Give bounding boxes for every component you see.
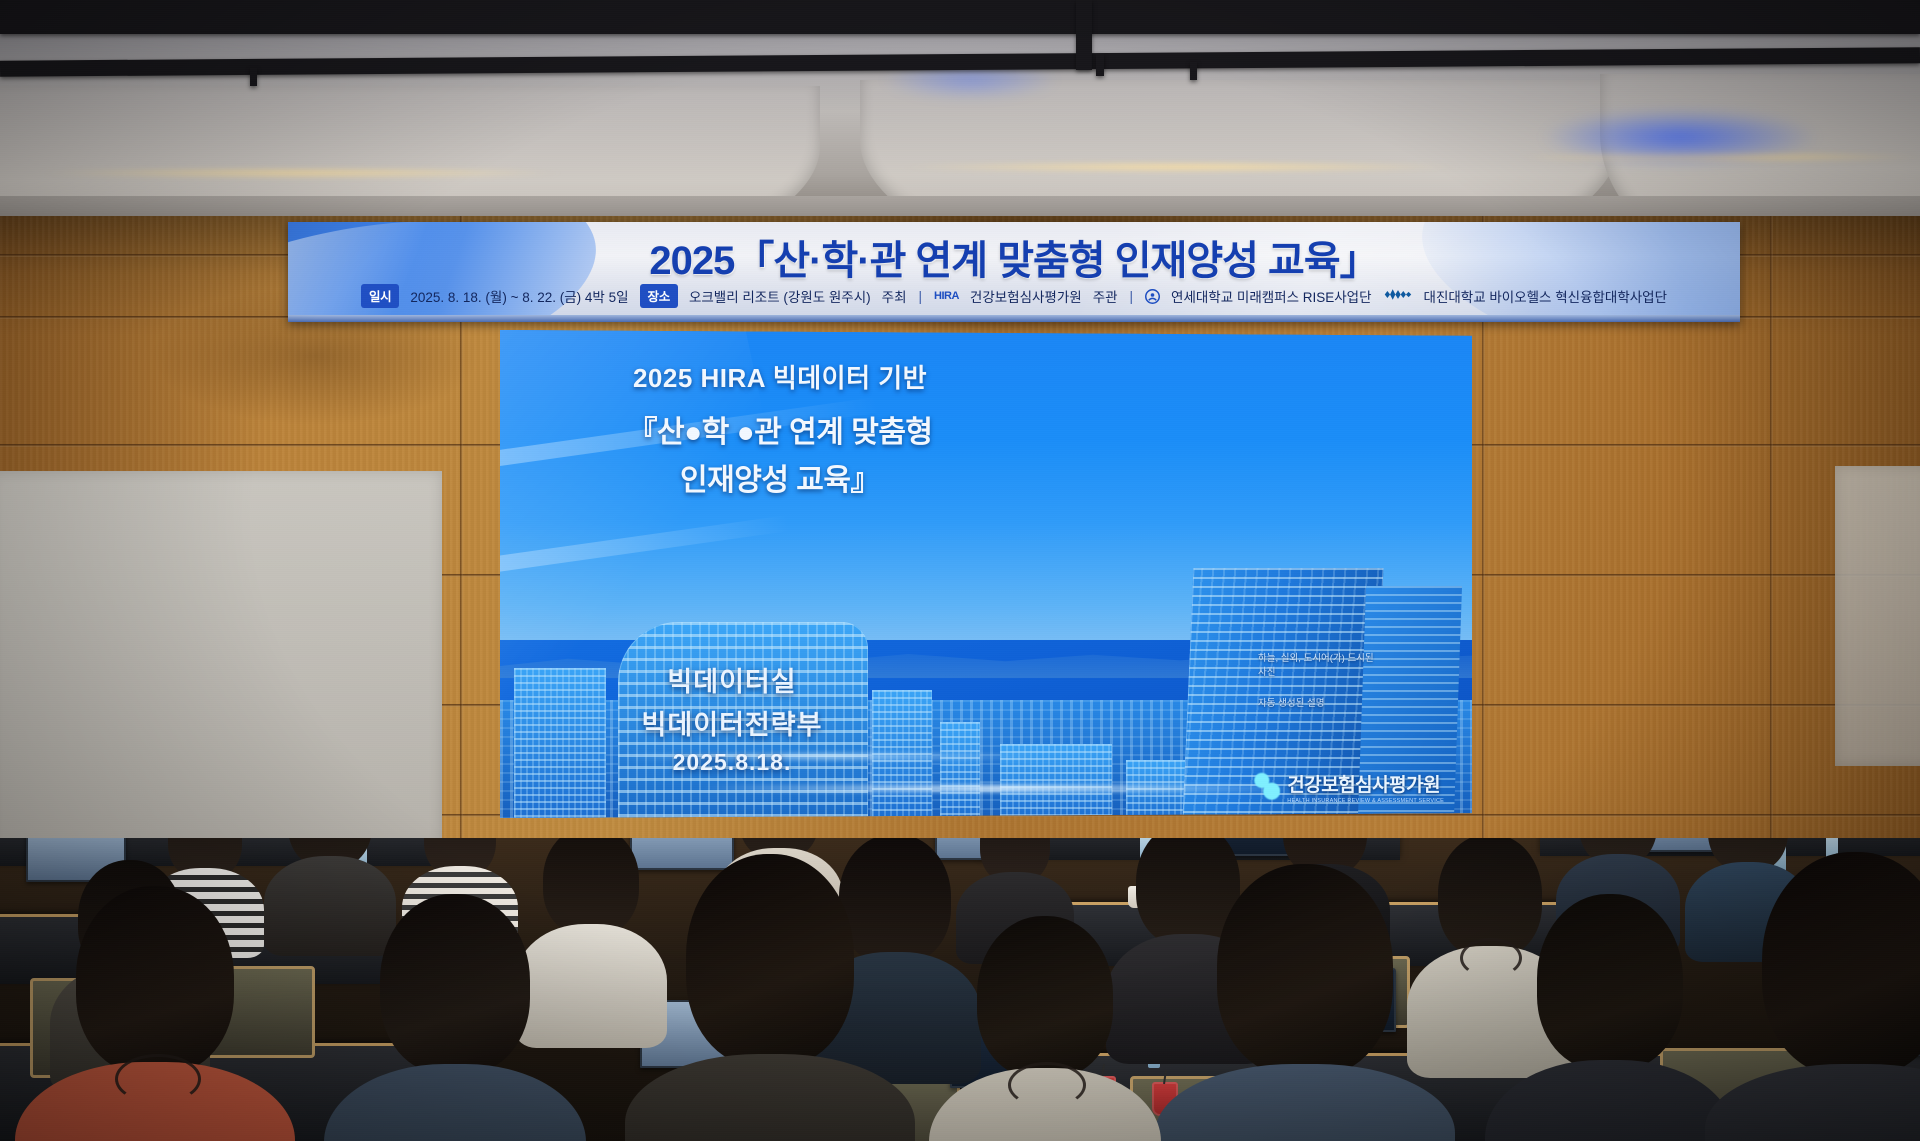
wall-gray-panel-left — [0, 471, 442, 896]
organizer-separator: | — [1129, 289, 1135, 304]
slide-footer-block: 빅데이터실 빅데이터전략부 2025.8.18. — [522, 660, 942, 776]
host-separator: | — [918, 289, 924, 304]
slide-title-line2: 『산●학 ●관 연계 맞춤형 — [500, 407, 1060, 451]
organizer-value: 연세대학교 미래캠퍼스 RISE사업단 — [1171, 286, 1371, 306]
banner-bottom-edge — [288, 315, 1740, 322]
conference-hall-photo: 2025「산·학·관 연계 맞춤형 인재양성 교육」 일시 2025. 8. 1… — [0, 0, 1920, 1141]
hira-logo-kr: 건강보험심사평가원 — [1287, 770, 1444, 797]
place-value: 오크밸리 리조트 (강원도 원주시) — [689, 286, 871, 306]
event-banner: 2025「산·학·관 연계 맞춤형 인재양성 교육」 일시 2025. 8. 1… — [288, 222, 1740, 322]
attendee — [1750, 852, 1920, 1141]
attendee — [1200, 864, 1410, 1141]
slide-title-block: 2025 HIRA 빅데이터 기반 『산●학 ●관 연계 맞춤형 인재양성 교육… — [500, 358, 1060, 499]
slide-footer-line1: 빅데이터실 — [522, 660, 942, 699]
place-tag: 장소 — [640, 284, 678, 308]
coorganizer-value: 대진대학교 바이오헬스 혁신융합대학사업단 — [1424, 286, 1667, 306]
slide-footer-line2: 빅데이터전략부 — [522, 703, 942, 742]
daejin-logo-icon — [1383, 288, 1413, 304]
slide-hira-logo: 건강보험심사평가원 HEALTH INSURANCE REVIEW & ASSE… — [1254, 770, 1444, 804]
attendee — [1520, 894, 1700, 1141]
banner-title: 2025「산·학·관 연계 맞춤형 인재양성 교육」 — [288, 228, 1740, 286]
date-value: 2025. 8. 18. (월) ~ 8. 22. (금) 4박 5일 — [410, 286, 628, 306]
attendee — [55, 886, 255, 1141]
organizer-label: 주관 — [1093, 286, 1118, 306]
hira-symbol-icon — [1254, 772, 1280, 802]
slide-footer-date: 2025.8.18. — [522, 749, 942, 776]
yonsei-logo-icon — [1145, 289, 1160, 304]
slide-alt-text-line1: 하늘, 실외, 도시어(가) 드시된 사진 — [1258, 652, 1376, 681]
slide-alt-text-line2: 자동 생성된 설명 — [1258, 697, 1376, 711]
ceiling — [0, 0, 1920, 232]
wall-gray-panel-right — [1835, 466, 1920, 766]
host-value: 건강보험심사평가원 — [970, 286, 1082, 306]
banner-info-line: 일시 2025. 8. 18. (월) ~ 8. 22. (금) 4박 5일 장… — [288, 284, 1740, 308]
attendee — [670, 854, 870, 1141]
projection-screen: 2025 HIRA 빅데이터 기반 『산●학 ●관 연계 맞춤형 인재양성 교육… — [500, 330, 1472, 818]
date-tag: 일시 — [361, 284, 399, 308]
slide-title-line3: 인재양성 교육』 — [500, 455, 1060, 499]
attendee — [360, 894, 550, 1141]
audience-area — [0, 838, 1920, 1141]
hira-logo-en: HEALTH INSURANCE REVIEW & ASSESSMENT SER… — [1287, 798, 1444, 804]
attendee — [960, 916, 1130, 1141]
slide-alt-text: 하늘, 실외, 도시어(가) 드시된 사진 자동 생성된 설명 — [1258, 652, 1376, 711]
hira-logo-icon: HIRA — [934, 290, 959, 302]
host-label: 주최 — [882, 286, 907, 306]
slide-title-line1: 2025 HIRA 빅데이터 기반 — [500, 358, 1060, 395]
